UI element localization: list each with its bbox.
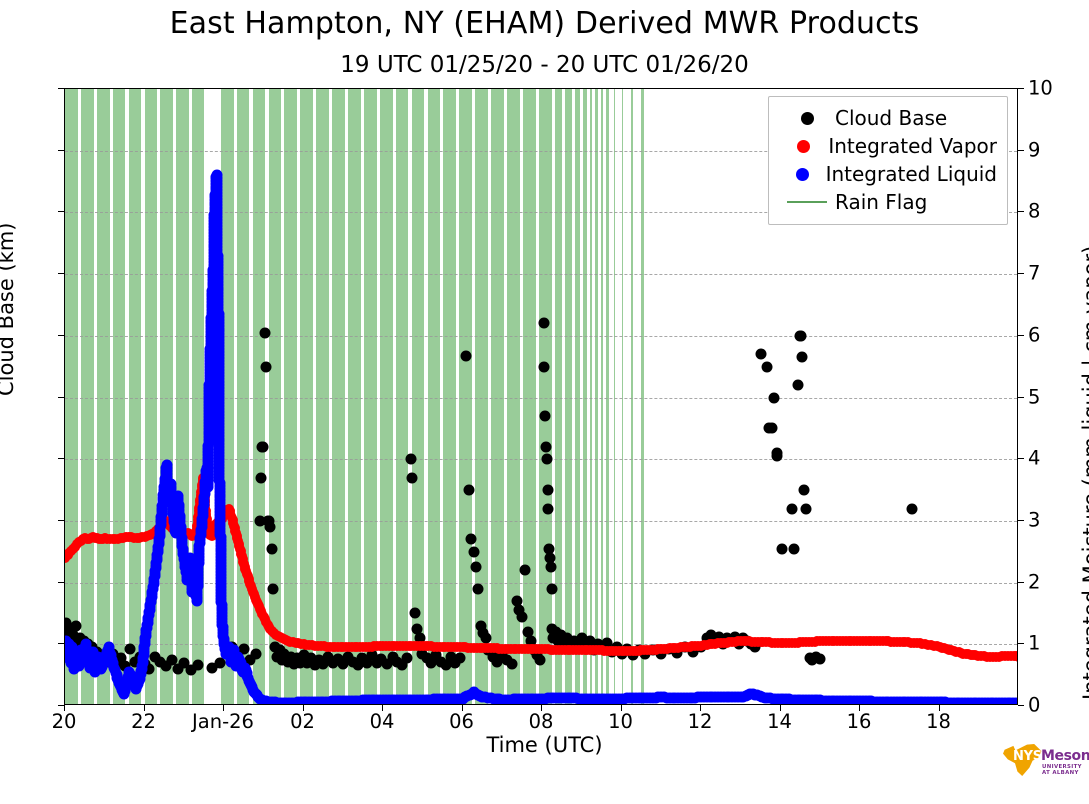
- rain-flag-band: [237, 89, 250, 704]
- data-point-cloud-base: [761, 361, 772, 372]
- y-tick-label-right: 9: [1028, 138, 1040, 161]
- data-point-cloud-base: [538, 318, 549, 329]
- x-tick-mark: [541, 705, 542, 711]
- data-point-cloud-base: [268, 583, 279, 594]
- data-point-cloud-base: [540, 441, 551, 452]
- x-tick-mark: [780, 705, 781, 711]
- data-point-cloud-base: [796, 330, 807, 341]
- data-point-cloud-base: [261, 361, 272, 372]
- x-tick-mark: [382, 705, 383, 711]
- x-tick-mark: [144, 705, 145, 711]
- y-tick-label-right: 7: [1028, 262, 1040, 285]
- data-point-cloud-base: [797, 352, 808, 363]
- rain-flag-band: [583, 89, 586, 704]
- x-tick-label: 04: [370, 710, 395, 733]
- rain-flag-band: [269, 89, 282, 704]
- data-point-cloud-base: [405, 454, 416, 465]
- data-point-cloud-base: [906, 503, 917, 514]
- mwr-products-figure: East Hampton, NY (EHAM) Derived MWR Prod…: [0, 0, 1089, 804]
- data-point-cloud-base: [409, 608, 420, 619]
- logo-nys-text: NYS: [1013, 750, 1042, 763]
- legend-dot-icon: [796, 168, 809, 181]
- data-point-cloud-base: [541, 454, 552, 465]
- legend-label: Cloud Base: [835, 106, 947, 130]
- data-point-cloud-base: [401, 652, 412, 663]
- x-tick-label: 02: [290, 710, 315, 733]
- x-tick-label: 10: [608, 710, 633, 733]
- rain-flag-band: [575, 89, 580, 704]
- data-point-cloud-base: [215, 657, 226, 668]
- y-tick-label-right: 2: [1028, 570, 1040, 593]
- x-axis-label: Time (UTC): [0, 733, 1089, 757]
- y-tick-mark: [1018, 643, 1024, 644]
- rain-flag-band: [332, 89, 345, 704]
- x-tick-mark: [621, 705, 622, 711]
- y-tick-mark: [1018, 150, 1024, 151]
- rain-flag-band: [396, 89, 409, 704]
- data-point-cloud-base: [480, 633, 491, 644]
- y-tick-label-right: 3: [1028, 508, 1040, 531]
- data-point-cloud-base: [517, 611, 528, 622]
- x-tick-mark: [303, 705, 304, 711]
- x-tick-mark: [223, 705, 224, 711]
- x-tick-label: 12: [688, 710, 713, 733]
- y-tick-label-right: 5: [1028, 385, 1040, 408]
- data-point-cloud-base: [815, 654, 826, 665]
- legend-dot-icon: [797, 140, 810, 153]
- x-tick-label: 16: [847, 710, 872, 733]
- data-point-cloud-base: [519, 565, 530, 576]
- rain-flag-band: [65, 89, 78, 704]
- data-point-cloud-base: [461, 350, 472, 361]
- x-tick-mark: [859, 705, 860, 711]
- grid-line: [65, 583, 1017, 584]
- logo-university-text: UNIVERSITY AT ALBANY: [1042, 764, 1082, 776]
- y-axis-right-label: Integrated Moisture (mm liquid | cm vapo…: [1079, 246, 1089, 700]
- data-point-cloud-base: [799, 485, 810, 496]
- rain-flag-band: [348, 89, 361, 704]
- data-point-cloud-base: [468, 546, 479, 557]
- data-point-cloud-base: [766, 423, 777, 434]
- data-point-cloud-base: [535, 654, 546, 665]
- data-point-cloud-base: [463, 485, 474, 496]
- rain-flag-band: [192, 89, 204, 704]
- data-point-cloud-base: [407, 472, 418, 483]
- data-point-cloud-base: [471, 562, 482, 573]
- data-point-cloud-base: [543, 503, 554, 514]
- data-point-cloud-base: [546, 583, 557, 594]
- page-title: East Hampton, NY (EHAM) Derived MWR Prod…: [0, 6, 1089, 41]
- legend-marker-icon: [779, 112, 835, 125]
- x-tick-label: 14: [767, 710, 792, 733]
- y-tick-mark: [1018, 520, 1024, 521]
- y-tick-mark: [1018, 397, 1024, 398]
- x-tick-label: 20: [52, 710, 77, 733]
- x-tick-mark: [939, 705, 940, 711]
- rain-flag-band: [443, 89, 456, 704]
- data-point-cloud-base: [250, 648, 261, 659]
- data-point-integrated-liquid: [1014, 697, 1018, 704]
- y-tick-label-right: 0: [1028, 694, 1040, 717]
- x-tick-mark: [462, 705, 463, 711]
- data-point-cloud-base: [789, 543, 800, 554]
- page-subtitle: 19 UTC 01/25/20 - 20 UTC 01/26/20: [0, 52, 1089, 78]
- rain-flag-band: [459, 89, 472, 704]
- legend-item-integrated-vapor[interactable]: Integrated Vapor: [779, 132, 997, 160]
- rain-flag-band: [316, 89, 329, 704]
- data-point-cloud-base: [473, 583, 484, 594]
- data-point-cloud-base: [542, 485, 553, 496]
- data-point-cloud-base: [265, 522, 276, 533]
- data-point-cloud-base: [255, 472, 266, 483]
- x-tick-label: 18: [926, 710, 951, 733]
- y-tick-mark: [1018, 335, 1024, 336]
- x-tick-label: 22: [131, 710, 156, 733]
- data-point-cloud-base: [455, 652, 466, 663]
- y-tick-mark: [1018, 458, 1024, 459]
- rain-flag-band: [97, 89, 110, 704]
- rain-flag-band: [129, 89, 142, 704]
- data-point-cloud-base: [506, 659, 517, 670]
- data-point-cloud-base: [540, 411, 551, 422]
- data-point-cloud-base: [787, 503, 798, 514]
- rain-flag-band: [176, 89, 189, 704]
- legend-marker-icon: [779, 201, 835, 203]
- data-point-cloud-base: [193, 660, 204, 671]
- data-point-cloud-base: [539, 361, 550, 372]
- data-point-cloud-base: [71, 620, 82, 631]
- y-tick-mark: [1018, 211, 1024, 212]
- rain-flag-band: [113, 89, 126, 704]
- legend-dot-icon: [801, 112, 814, 125]
- y-tick-mark: [1018, 88, 1024, 89]
- rain-flag-band: [622, 89, 624, 704]
- y-tick-label-right: 4: [1028, 447, 1040, 470]
- legend-marker-icon: [779, 140, 828, 153]
- rain-flag-band: [565, 89, 572, 704]
- y-tick-mark: [1018, 705, 1024, 706]
- x-tick-mark: [700, 705, 701, 711]
- legend[interactable]: Cloud BaseIntegrated VaporIntegrated Liq…: [768, 96, 1008, 225]
- logo-mesonet-text: Mesonet: [1041, 749, 1089, 763]
- nys-mesonet-logo: NYS Mesonet UNIVERSITY AT ALBANY: [1003, 742, 1081, 778]
- y-tick-mark: [1018, 273, 1024, 274]
- data-point-cloud-base: [801, 503, 812, 514]
- y-tick-mark: [1018, 582, 1024, 583]
- data-point-cloud-base: [772, 451, 783, 462]
- rain-flag-band: [491, 89, 504, 704]
- y-tick-label-right: 6: [1028, 323, 1040, 346]
- data-point-cloud-base: [777, 543, 788, 554]
- legend-marker-icon: [779, 168, 826, 181]
- legend-item-integrated-liquid[interactable]: Integrated Liquid: [779, 160, 997, 188]
- data-point-cloud-base: [266, 543, 277, 554]
- data-point-cloud-base: [793, 380, 804, 391]
- rain-flag-band: [364, 89, 377, 704]
- rain-flag-band: [475, 89, 488, 704]
- y-axis-left-label: Cloud Base (km): [0, 223, 18, 396]
- rain-flag-band: [595, 89, 597, 704]
- rain-flag-band: [160, 89, 173, 704]
- rain-flag-band: [428, 89, 441, 704]
- x-tick-mark: [64, 705, 65, 711]
- data-point-cloud-base: [769, 392, 780, 403]
- x-tick-label: 08: [529, 710, 554, 733]
- rain-flag-band: [81, 89, 94, 704]
- rain-flag-band: [641, 89, 643, 704]
- rain-flag-band: [614, 89, 616, 704]
- data-point-cloud-base: [755, 349, 766, 360]
- y-tick-label-right: 1: [1028, 632, 1040, 655]
- legend-label: Integrated Liquid: [826, 162, 997, 186]
- rain-flag-band: [284, 89, 297, 704]
- rain-flag-band: [606, 89, 608, 704]
- legend-label: Rain Flag: [835, 190, 927, 214]
- data-point-integrated-vapor: [1014, 652, 1017, 662]
- data-point-cloud-base: [545, 562, 556, 573]
- data-point-cloud-base: [466, 534, 477, 545]
- data-point-cloud-base: [259, 327, 270, 338]
- data-point-cloud-base: [257, 441, 268, 452]
- rain-flag-band: [380, 89, 393, 704]
- x-tick-label: Jan-26: [192, 710, 254, 733]
- rain-flag-band: [555, 89, 562, 704]
- legend-label: Integrated Vapor: [828, 134, 997, 158]
- x-tick-label: 06: [449, 710, 474, 733]
- y-tick-label-right: 10: [1028, 77, 1053, 100]
- rain-flag-band: [300, 89, 313, 704]
- legend-line-icon: [787, 201, 827, 203]
- rain-flag-band: [590, 89, 592, 704]
- legend-item-cloud-base[interactable]: Cloud Base: [779, 104, 997, 132]
- rain-flag-band: [631, 89, 633, 704]
- y-tick-label-right: 8: [1028, 200, 1040, 223]
- rain-flag-band: [539, 89, 552, 704]
- legend-item-rain-flag[interactable]: Rain Flag: [779, 188, 997, 216]
- rain-flag-band: [601, 89, 603, 704]
